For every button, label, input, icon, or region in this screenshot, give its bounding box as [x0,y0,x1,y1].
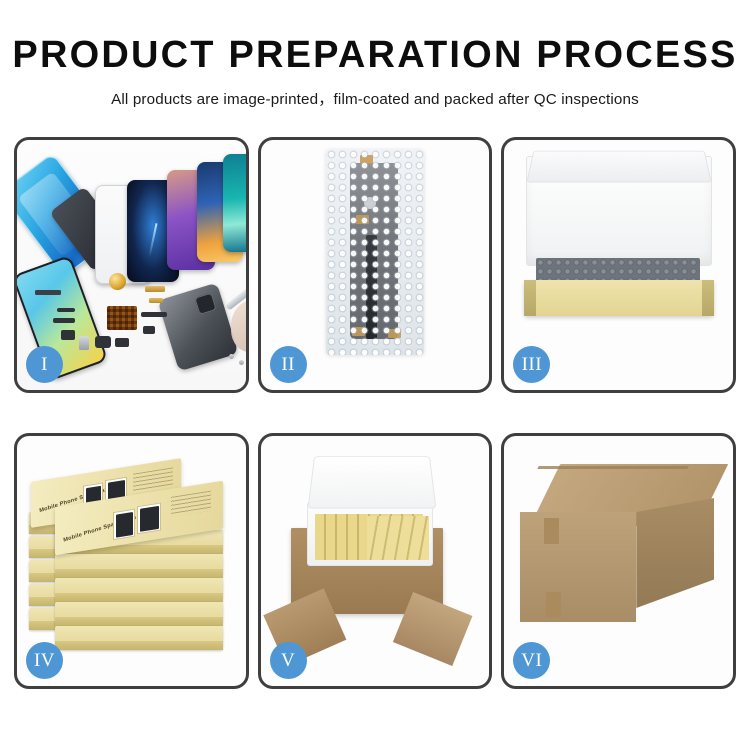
foam-box-lid [307,456,436,508]
screw-1 [229,354,234,359]
gold-flex-chip [145,286,165,292]
page-subtitle: All products are image-printed，film-coat… [0,87,750,109]
carton-tape-lower [546,592,561,618]
bubble-wrap-bag [326,149,424,355]
stacked-box-front-1 [55,626,223,650]
product-preparation-infographic: PRODUCT PREPARATION PROCESS All products… [0,0,750,750]
camera-module [143,326,155,334]
speaker-module [115,338,129,347]
chip-bar [35,290,61,295]
box-window-front-1 [113,509,135,540]
flex-cable-2 [53,318,75,323]
yellow-boxes-row-2 [367,516,429,560]
flex-cable-3 [61,330,75,340]
box-stack: Mobile Phone Spare Parts Mobile Phone Sp… [29,452,237,648]
yellow-box-tray [524,280,714,316]
step-badge-2: II [270,346,307,383]
stacked-box-front-3 [55,578,223,602]
vibration-motor [95,336,111,348]
page-title: PRODUCT PREPARATION PROCESS [0,36,750,74]
phone-display-teal [223,154,246,252]
process-steps-grid: I II [14,137,736,689]
panel-step-1: I [14,137,249,393]
step-badge-5: V [270,642,307,679]
panel-step-2: II [258,137,493,393]
stacked-box-front-4 [55,554,223,578]
header: PRODUCT PREPARATION PROCESS All products… [0,0,750,109]
box-spec-lines-front [171,491,211,517]
step-badge-4: IV [26,642,63,679]
carton-front-face [520,512,636,622]
connector-grid-chip [107,306,137,330]
panel-step-4: Mobile Phone Spare Parts Mobile Phone Sp… [14,433,249,689]
step-badge-1: I [26,346,63,383]
panel-step-5: V [258,433,493,689]
phone-back-housing [158,283,239,372]
flex-cable-1 [57,308,75,312]
carton-side-face [636,498,714,608]
panel-step-6: VI [501,433,736,689]
gold-coil-component [109,273,126,290]
carton-top-seam [538,466,689,469]
screw-2 [239,360,244,365]
flex-cable-4 [141,312,167,317]
carton-flap-right [393,592,473,666]
panel-step-3: III [501,137,736,393]
sim-tray [79,336,89,350]
bubble-wrap-texture [326,149,424,355]
box-window-front-2 [137,503,161,535]
gold-flex-chip-2 [149,298,163,303]
carton-tape-upper [544,518,559,544]
foam-sheet-flap [527,151,712,183]
stacked-box-front-2 [55,602,223,626]
